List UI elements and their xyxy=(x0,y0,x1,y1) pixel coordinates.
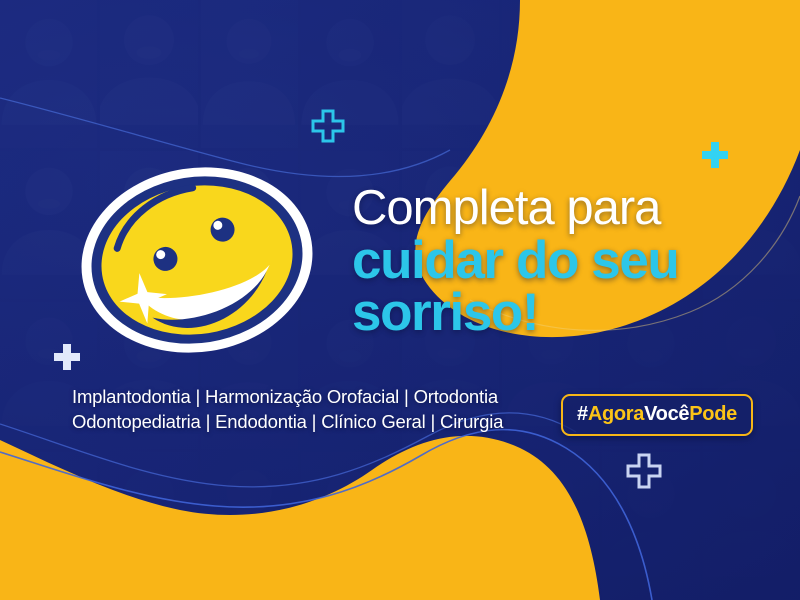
services-line-2: Odontopediatria | Endodontia | Clínico G… xyxy=(72,410,503,435)
services-line-1: Implantodontia | Harmonização Orofacial … xyxy=(72,385,503,410)
headline: Completa para cuidar do seu sorriso! xyxy=(352,185,678,338)
headline-line-2: cuidar do seu xyxy=(352,235,678,286)
plus-icon-cyan-solid xyxy=(700,140,730,170)
plus-icon-white-outline xyxy=(625,452,663,490)
headline-line-3: sorriso! xyxy=(352,287,678,338)
advertisement-banner: Completa para cuidar do seu sorriso! Imp… xyxy=(0,0,800,600)
hashtag-badge[interactable]: #AgoraVocêPode xyxy=(561,394,753,436)
services-list: Implantodontia | Harmonização Orofacial … xyxy=(72,385,503,434)
badge-part-pode: Pode xyxy=(689,403,737,425)
badge-part-agora: Agora xyxy=(588,403,644,425)
plus-icon-cyan-outline xyxy=(310,108,346,144)
badge-part-voce: Você xyxy=(644,403,689,425)
headline-line-1: Completa para xyxy=(352,185,678,233)
smiley-face-logo xyxy=(72,158,322,363)
badge-hash: # xyxy=(577,403,588,425)
